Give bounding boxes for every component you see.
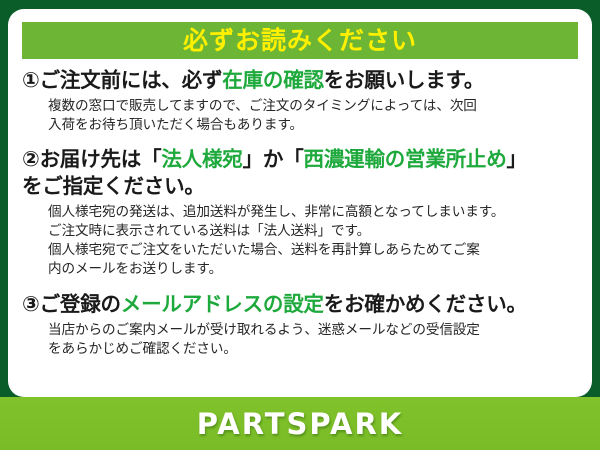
notice-item-3-heading: ③ご登録のメールアドレスの設定をお確かめください。 [22,291,582,318]
item-1-heading-emphasis: 在庫の確認 [222,68,324,92]
item-3-body-line-1: 当店からのご案内メールが受け取れるよう、迷惑メールなどの受信設定 [48,321,582,340]
item-2-heading-part-6: をご指定ください。 [22,174,205,198]
notice-footer: PARTSPARK [0,397,600,450]
item-2-body-line-4: 内のメールをお送りします。 [48,260,582,279]
notice-item-3: ③ご登録のメールアドレスの設定をお確かめください。 当店からのご案内メールが受け… [22,291,582,359]
notice-item-list: ①ご注文前には、必ず在庫の確認をお願いします。 複数の窓口で販売してますので、ご… [22,67,582,364]
item-1-heading-part-1: ご注文前には、必ず [40,68,223,92]
item-marker-3: ③ [22,292,40,316]
item-2-heading-emphasis-2: 西濃運輸の営業所止め [304,147,507,171]
item-2-heading-part-5: 」 [507,147,527,171]
notice-item-2: ②お届け先は「法人様宛」か「西濃運輸の営業所止め」 をご指定ください。 個人様宅… [22,146,582,279]
item-2-body-line-2: ご注文時に表示されている送料は「法人送料」です。 [48,222,582,241]
notice-item-2-heading-line-2: をご指定ください。 [22,173,582,199]
notice-item-2-heading-line-1: ②お届け先は「法人様宛」か「西濃運輸の営業所止め」 [22,146,582,173]
item-3-heading-part-3: をお確かめください。 [324,292,527,316]
item-marker-2: ② [22,147,40,171]
item-2-body-line-1: 個人様宅宛の発送は、追加送料が発生し、非常に高額となってしまいます。 [48,203,582,222]
item-2-heading-emphasis-1: 法人様宛 [161,147,242,171]
item-2-heading-part-3: 」か「 [243,147,304,171]
item-2-heading-part-1: お届け先は「 [40,147,162,171]
notice-item-2-body: 個人様宅宛の発送は、追加送料が発生し、非常に高額となってしまいます。 ご注文時に… [48,203,582,280]
notice-panel: 必ずお読みください ①ご注文前には、必ず在庫の確認をお願いします。 複数の窓口で… [8,9,592,397]
notice-item-1: ①ご注文前には、必ず在庫の確認をお願いします。 複数の窓口で販売してますので、ご… [22,67,582,135]
item-2-body-line-3: 個人様宅宛でご注文をいただいた場合、送料を再計算しあらためてご案 [48,241,582,260]
notice-item-1-body: 複数の窓口で販売してますので、ご注文のタイミングによっては、次回 入荷をお待ち頂… [48,97,582,136]
item-3-body-line-2: をあらかじめご確認ください。 [48,340,582,359]
brand-name: PARTSPARK [197,407,404,441]
item-3-heading-emphasis: メールアドレスの設定 [121,292,324,316]
item-3-heading-part-1: ご登録の [40,292,121,316]
notice-header-title: 必ずお読みください [183,28,417,53]
notice-banner: 必ずお読みください ①ご注文前には、必ず在庫の確認をお願いします。 複数の窓口で… [0,0,600,450]
item-1-heading-part-3: をお願いします。 [324,68,484,92]
item-1-body-line-2: 入荷をお待ち頂いただく場合もあります。 [48,116,582,135]
notice-item-1-heading: ①ご注文前には、必ず在庫の確認をお願いします。 [22,67,582,94]
item-marker-1: ① [22,68,40,92]
notice-item-3-body: 当店からのご案内メールが受け取れるよう、迷惑メールなどの受信設定 をあらかじめご… [48,321,582,360]
notice-header-bar: 必ずお読みください [22,22,578,59]
item-1-body-line-1: 複数の窓口で販売してますので、ご注文のタイミングによっては、次回 [48,97,582,116]
